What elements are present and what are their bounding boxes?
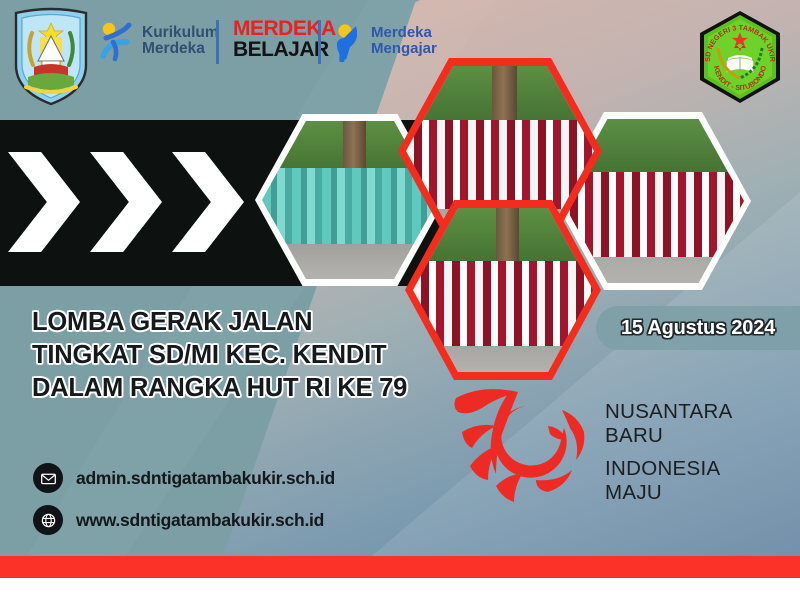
contact-row-website[interactable]: www.sdntigatambakukir.sch.id	[33, 505, 335, 535]
chevron-arrow-group	[8, 152, 244, 252]
photo-marching-students	[562, 172, 744, 257]
chevron-right-icon	[172, 152, 244, 252]
date-badge-label: 15 Agustus 2024	[621, 317, 775, 340]
kurikulum-merdeka-label: Kurikulum Merdeka	[142, 25, 219, 57]
km-line2: Merdeka	[142, 41, 219, 57]
globe-icon	[33, 505, 63, 535]
photo-students-group	[413, 261, 593, 346]
merdeka-mengajar-logo: Merdeka Mengajar	[332, 20, 437, 62]
tagline-group-2: INDONESIA MAJU	[605, 457, 733, 505]
contact-website-value: www.sdntigatambakukir.sch.id	[76, 510, 324, 531]
contact-email-value: admin.sdntigatambakukir.sch.id	[76, 468, 335, 489]
bottom-stripe-white	[0, 578, 800, 600]
merdeka-mengajar-label: Merdeka Mengajar	[371, 25, 437, 56]
mm-line1: Merdeka	[371, 25, 437, 41]
photo-students-group	[406, 120, 594, 208]
photo-content	[413, 208, 593, 372]
kurikulum-merdeka-mark-icon	[100, 20, 134, 62]
contact-list: admin.sdntigatambakukir.sch.id www.sdnti…	[33, 463, 335, 547]
east-java-provincial-emblem	[12, 3, 90, 107]
mm-line2: Mengajar	[371, 41, 437, 57]
contact-row-email[interactable]: admin.sdntigatambakukir.sch.id	[33, 463, 335, 493]
logo-divider	[216, 20, 219, 64]
photo-hex-bottom-image	[413, 208, 593, 372]
poster-canvas: Kurikulum Merdeka MERDEKA BELAJAR Merdek…	[0, 0, 800, 600]
tagline-line3: INDONESIA	[605, 457, 733, 481]
tagline-line4: MAJU	[605, 481, 733, 505]
tagline-line1: NUSANTARA	[605, 400, 733, 424]
merdeka-mengajar-mark-icon	[332, 20, 364, 62]
tagline-group-1: NUSANTARA BARU	[605, 400, 733, 448]
photo-people-teal-uniforms	[262, 168, 438, 244]
date-badge: 15 Agustus 2024	[596, 306, 800, 350]
km-line1: Kurikulum	[142, 25, 219, 41]
page-title: LOMBA GERAK JALAN TINGKAT SD/MI KEC. KEN…	[32, 306, 412, 405]
chevron-right-icon	[8, 152, 80, 252]
chevron-right-icon	[90, 152, 162, 252]
envelope-icon	[33, 463, 63, 493]
kurikulum-merdeka-logo: Kurikulum Merdeka	[100, 20, 219, 62]
tagline-line2: BARU	[605, 424, 733, 448]
hut-ri-tagline: NUSANTARA BARU INDONESIA MAJU	[605, 400, 733, 514]
bottom-stripe-red	[0, 556, 800, 578]
hut-ri-79-logo	[452, 382, 612, 507]
